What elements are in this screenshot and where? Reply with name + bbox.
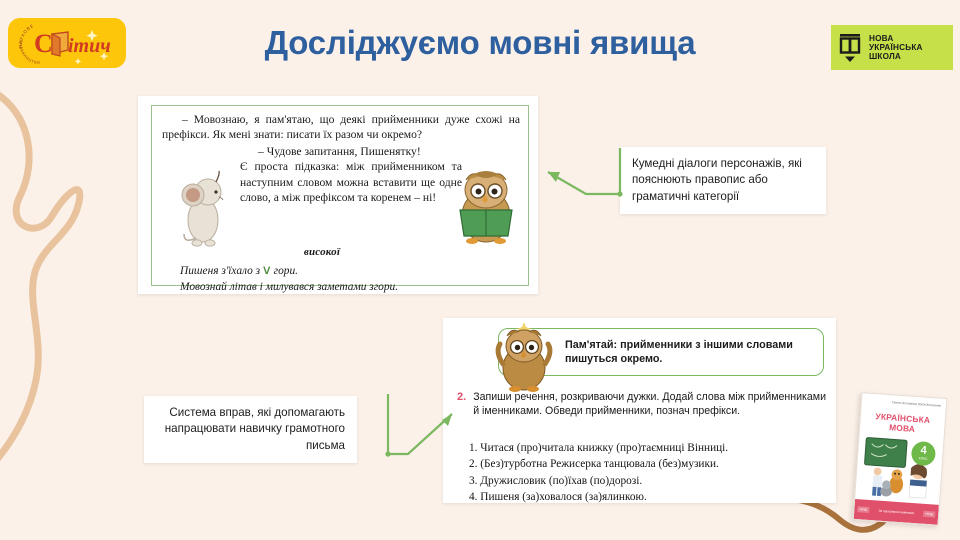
callout-exercises-text: Система вправ, які допомагають напрацюва… <box>156 405 345 454</box>
connector-dialogue-arrow <box>528 146 624 216</box>
sentence-list: 1. Читася (про)читала книжку (про)таємни… <box>469 440 826 506</box>
nus-line-3: ШКОЛА <box>869 52 923 61</box>
logo-letter-s: С <box>34 29 53 58</box>
textbook-footer: НУШ За програмою навчання НУШ <box>854 499 939 525</box>
textbook-cover: Ганна Остапенко Юлія Железняк УКРАЇНСЬКА… <box>853 392 948 526</box>
nus-mark-icon <box>837 31 863 65</box>
slide-canvas: НАУКОВЕ ВИДАВНИЦТВО С ітич <box>0 0 960 540</box>
callout-dialogues-text: Кумедні діалоги персонажів, які пояснюют… <box>632 156 814 205</box>
callout-dialogues: Кумедні діалоги персонажів, які пояснюют… <box>620 147 826 214</box>
insertion-caret-icon: ∨ <box>261 261 272 279</box>
textbook-footer-left-mark: НУШ <box>857 506 869 513</box>
exercise-card: Пам'ятай: прийменники з іншими словами п… <box>443 318 836 503</box>
example-line-1: Пишеня з'їхало з∨гори. <box>180 261 516 279</box>
textbook-grade-label: КЛАС <box>918 458 927 462</box>
dialogue-reply-lead: – Чудове запитання, Пишенятку! <box>240 144 462 159</box>
nus-logo: НОВА УКРАЇНСЬКА ШКОЛА <box>831 25 953 70</box>
callout-exercises: Система вправ, які допомагають напрацюва… <box>144 396 357 463</box>
list-item: 2. (Без)турботна Режисерка танцювала (бе… <box>469 456 826 472</box>
dialogue-card-border: – Мовознаю, я пам'ятаю, що деякі приймен… <box>151 105 529 286</box>
task-instruction: Запиши речення, розкриваючи дужки. Додай… <box>473 390 826 419</box>
textbook-footer-note: За програмою навчання <box>878 509 914 515</box>
mouse-character-icon <box>172 170 234 248</box>
example-line-2: Мовознай літав і милувався заметами згор… <box>180 279 516 295</box>
page-title: Досліджуємо мовні явища <box>180 24 780 62</box>
textbook-authors: Ганна Остапенко Юлія Железняк <box>892 400 941 408</box>
dialogue-reply-block: – Чудове запитання, Пишенятку! Є проста … <box>240 144 462 206</box>
list-item: 1. Читася (про)читала книжку (про)таємни… <box>469 440 826 456</box>
owl-teacher-icon <box>489 320 559 392</box>
publisher-logo-art: НАУКОВЕ ВИДАВНИЦТВО С ітич <box>8 18 126 68</box>
list-item: 4. Пишеня (за)ховалося (за)ялинкою. <box>469 489 826 505</box>
textbook-grade-number: 4 <box>920 446 927 457</box>
owl-reading-icon <box>450 164 522 246</box>
list-item: 3. Дружисловик (по)їхав (по)дорозі. <box>469 473 826 489</box>
dialogue-reply-body: Є проста підказка: між прийменником та н… <box>240 159 462 205</box>
textbook-title: УКРАЇНСЬКА МОВА <box>860 410 945 436</box>
example-line-1-after: гори. <box>274 265 298 277</box>
textbook-body: Ганна Остапенко Юлія Железняк УКРАЇНСЬКА… <box>853 392 948 526</box>
dialogue-paragraph-1: – Мовознаю, я пам'ятаю, що деякі приймен… <box>162 112 520 143</box>
task-number: 2. <box>457 390 466 419</box>
inserted-word-label: високої <box>128 245 516 261</box>
task-row: 2. Запиши речення, розкриваючи дужки. До… <box>457 390 826 419</box>
nus-wordmark: НОВА УКРАЇНСЬКА ШКОЛА <box>869 34 923 62</box>
dialogue-card: – Мовознаю, я пам'ятаю, що деякі приймен… <box>138 96 538 294</box>
nus-line-2: УКРАЇНСЬКА <box>869 43 923 52</box>
dialogue-example-block: високої Пишеня з'їхало з∨гори. Мовознай … <box>180 245 516 295</box>
textbook-authors-text: Ганна Остапенко Юлія Железняк <box>892 400 941 407</box>
example-line-1-before: Пишеня з'їхало з <box>180 265 260 277</box>
nus-line-1: НОВА <box>869 34 923 43</box>
publisher-logo: НАУКОВЕ ВИДАВНИЦТВО С ітич <box>8 18 126 68</box>
remember-text: Пам'ятай: прийменники з іншими словами п… <box>565 338 815 367</box>
textbook-footer-right-mark: НУШ <box>923 511 935 518</box>
